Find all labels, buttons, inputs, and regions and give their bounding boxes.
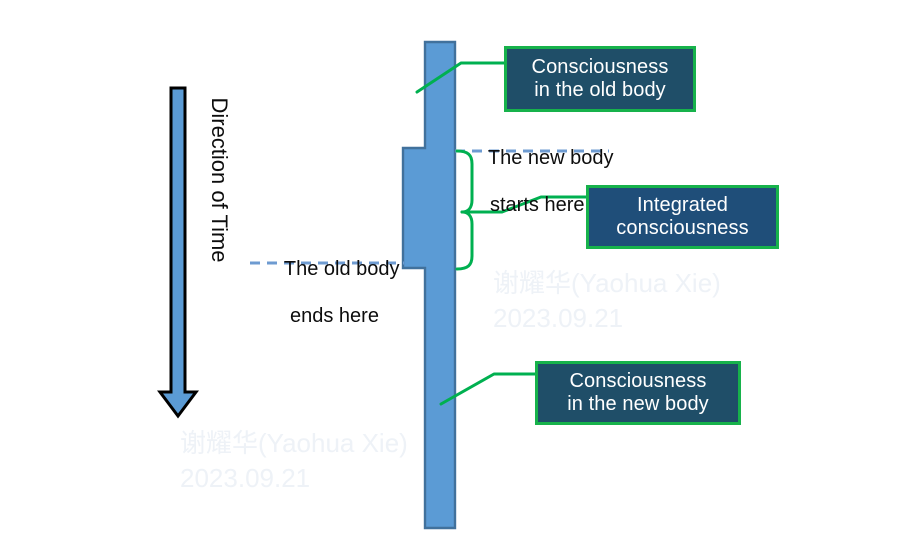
time-arrow bbox=[160, 88, 196, 416]
diagram-vector-layer bbox=[0, 0, 900, 554]
annotation-old-body-ends-here: The old body ends here bbox=[262, 234, 400, 376]
annotation-old-body-line2: ends here bbox=[262, 305, 400, 329]
diagram-canvas: Direction of Time Consciousness in the o… bbox=[0, 0, 900, 554]
callout-integrated-consciousness: Integrated consciousness bbox=[586, 185, 779, 249]
time-axis-label: Direction of Time bbox=[206, 80, 232, 280]
annotation-new-body-line2: starts here bbox=[466, 194, 614, 218]
callout-consciousness-old-body: Consciousness in the old body bbox=[504, 46, 696, 112]
consciousness-bar bbox=[403, 42, 455, 528]
consciousness-bar-shape bbox=[403, 42, 455, 528]
annotation-new-body-starts-here: The new body starts here bbox=[466, 123, 614, 265]
annotation-new-body-line1: The new body bbox=[488, 147, 614, 169]
time-arrow-shape bbox=[160, 88, 196, 416]
callout-consciousness-new-body: Consciousness in the new body bbox=[535, 361, 741, 425]
annotation-old-body-line1: The old body bbox=[284, 258, 400, 280]
